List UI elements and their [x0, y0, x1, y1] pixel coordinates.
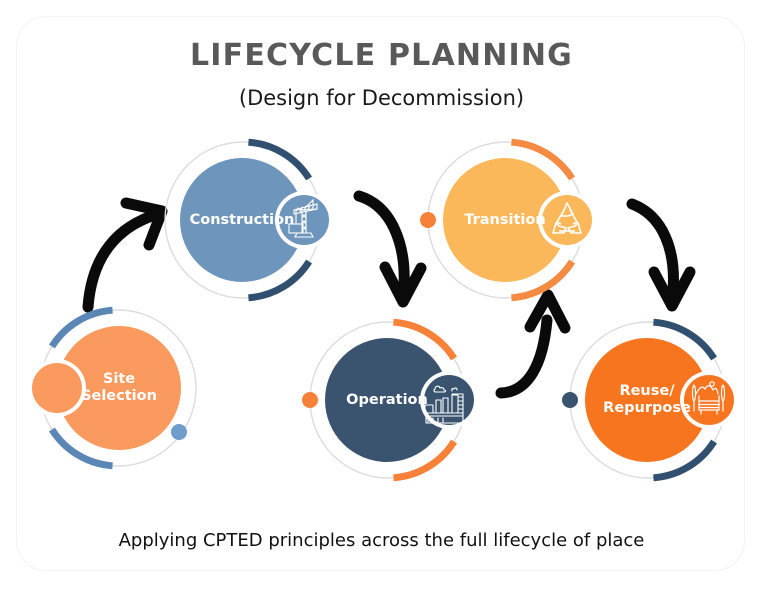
lifecycle-diagram: Site Selection: [0, 0, 763, 589]
node-dot: [562, 392, 578, 408]
node-badge-circle: [32, 363, 82, 413]
node-construction[interactable]: Construction: [155, 130, 331, 306]
diagram-caption: Applying CPTED principles across the ful…: [0, 530, 763, 551]
arrow-site-to-construction: [88, 203, 162, 307]
node-operation[interactable]: Operation: [300, 312, 476, 488]
node-dot: [171, 424, 187, 440]
arrow-transition-to-reuse: [632, 204, 690, 306]
node-dot: [302, 392, 318, 408]
node-site-selection[interactable]: Site Selection: [22, 300, 198, 476]
node-badge-circle: [684, 375, 734, 425]
node-badge-circle: [424, 375, 474, 425]
node-reuse-repurpose[interactable]: Reuse/ Repurpose: [560, 312, 736, 488]
node-transition[interactable]: Transition: [418, 130, 594, 306]
arrow-layer: [0, 0, 763, 589]
arrow-construction-to-operation: [359, 196, 421, 302]
node-dot: [420, 212, 436, 228]
